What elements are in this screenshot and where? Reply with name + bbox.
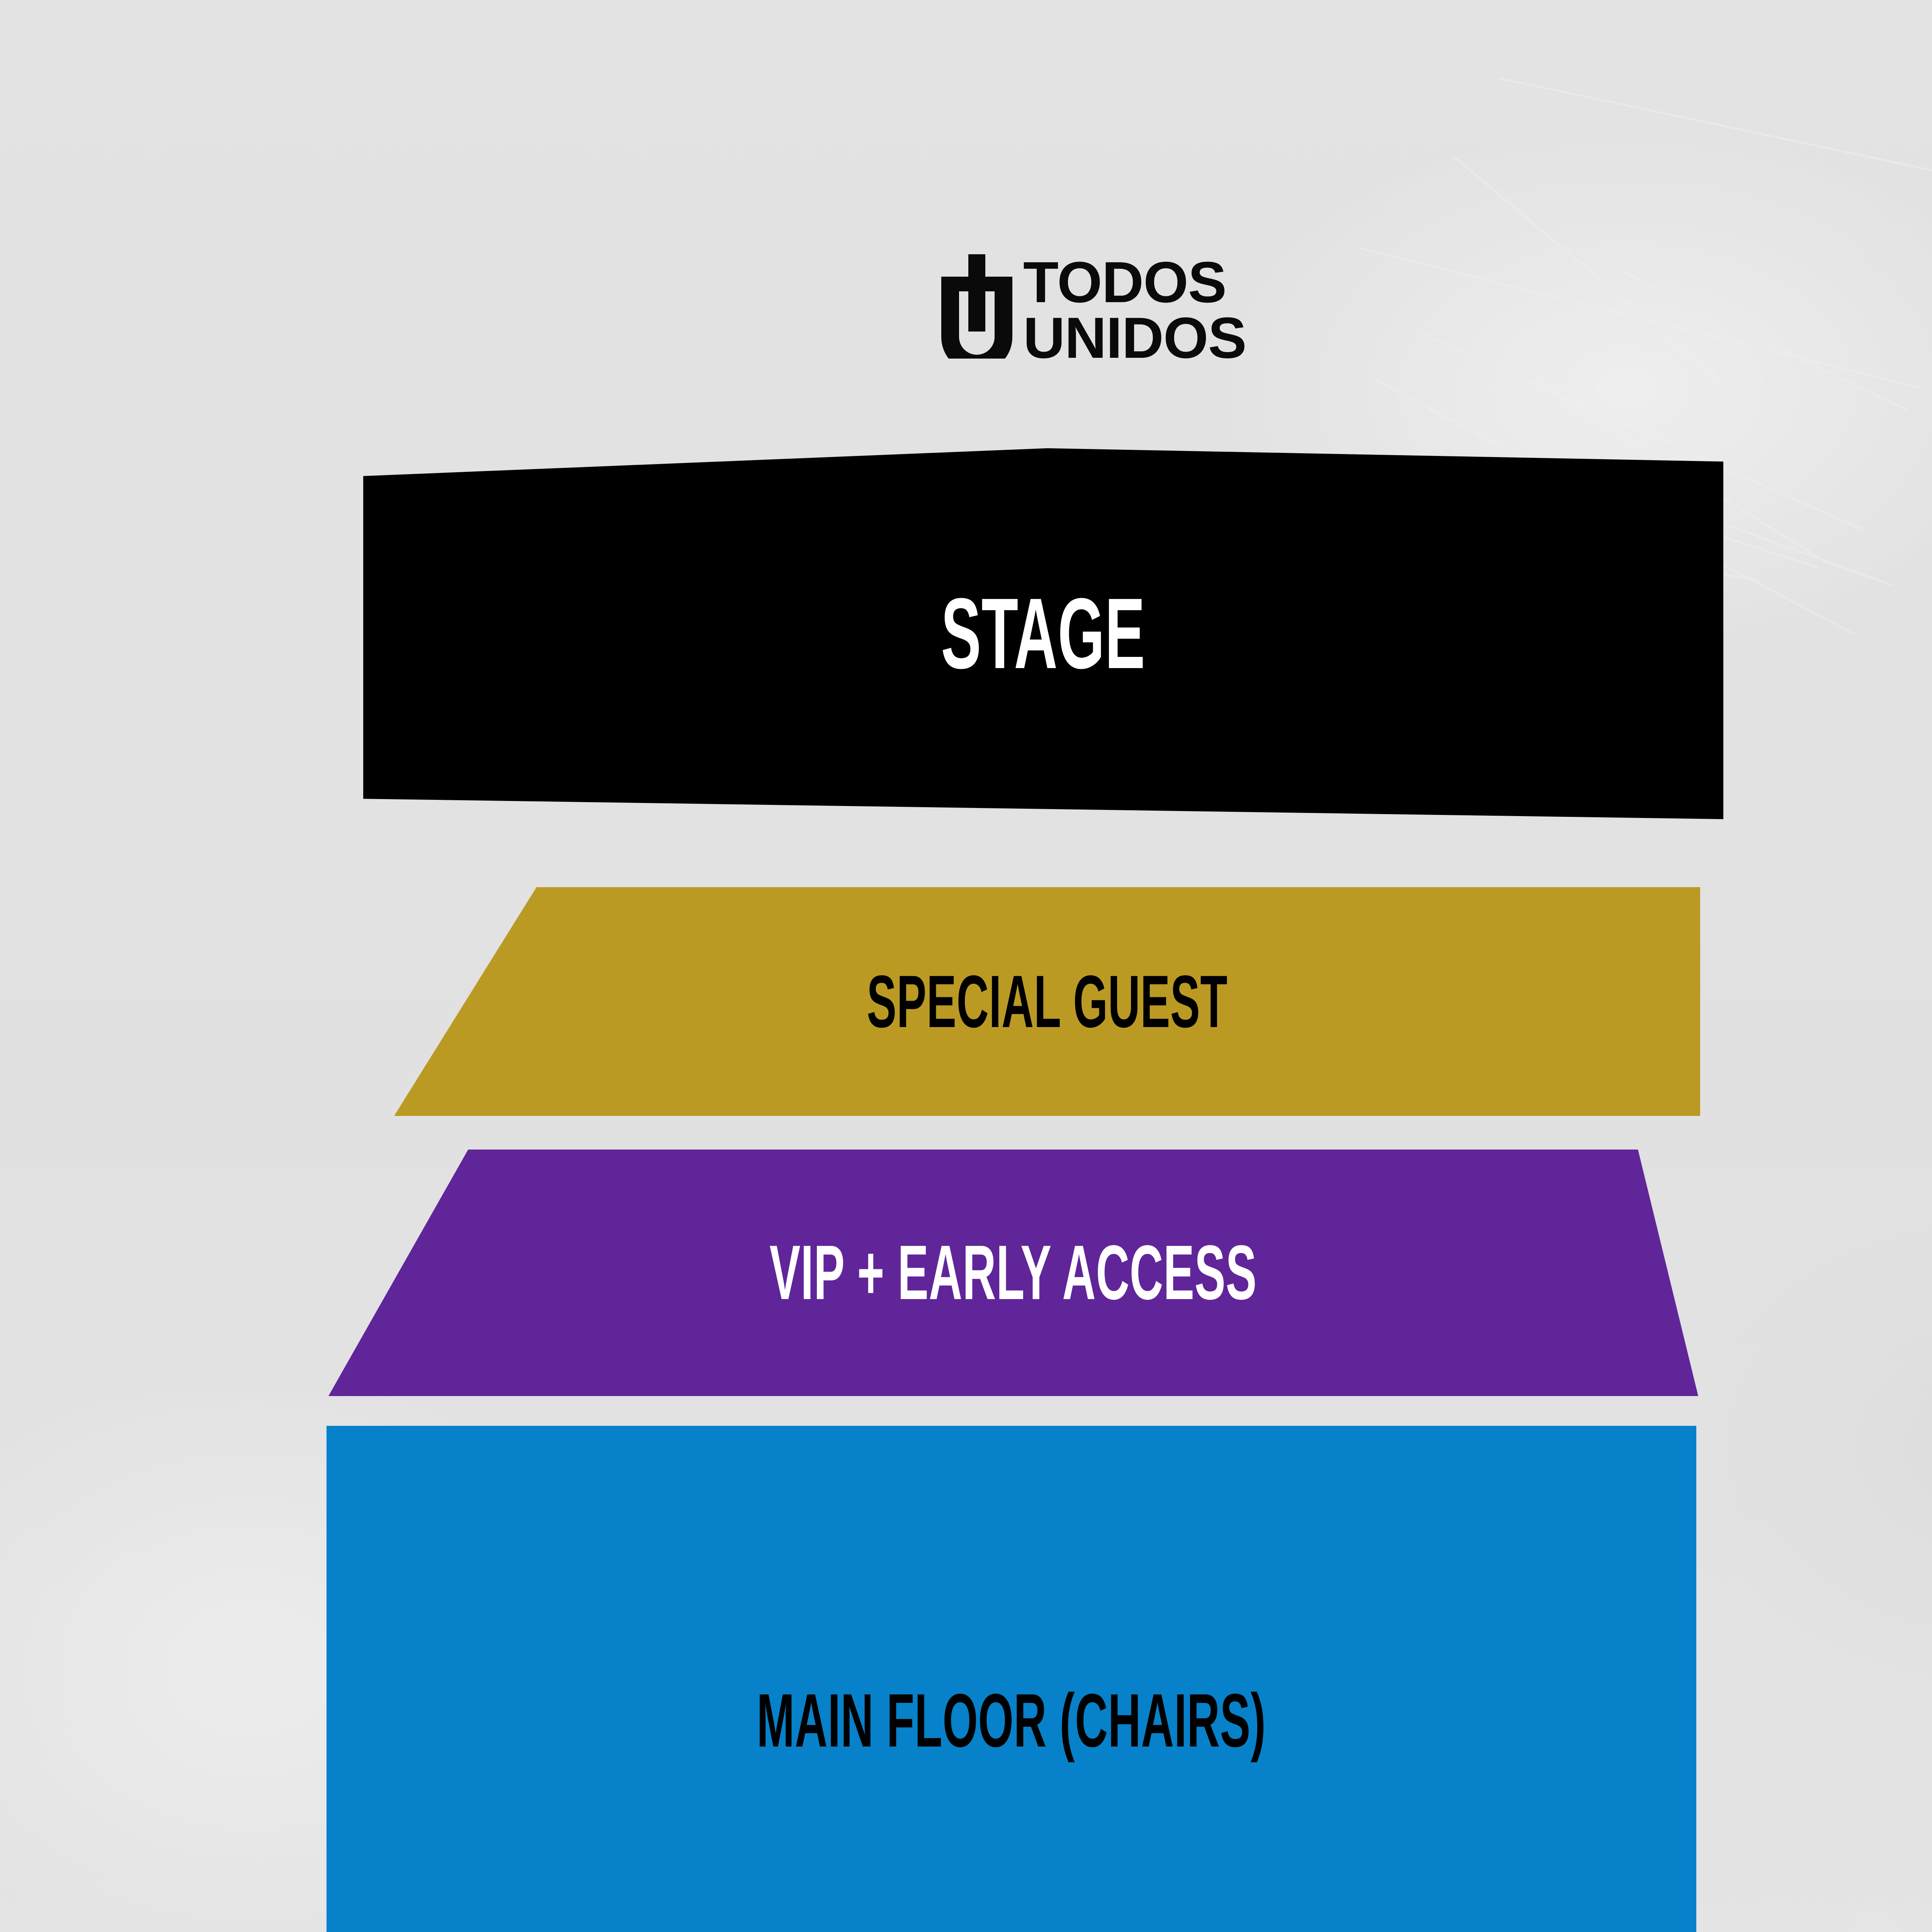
zone-vip-early-access[interactable]: VIP + EARLY ACCESS: [328, 1150, 1698, 1396]
zone-main-floor[interactable]: MAIN FLOOR (CHAIRS): [327, 1426, 1696, 1932]
zone-stage-label: STAGE: [941, 583, 1146, 684]
seating-chart: STAGE SPECIAL GUEST VIP + EARLY ACCESS M…: [0, 0, 1932, 1932]
zone-special-guest[interactable]: SPECIAL GUEST: [394, 887, 1700, 1116]
zone-main-floor-label: MAIN FLOOR (CHAIRS): [757, 1683, 1266, 1759]
zone-vip-early-access-label: VIP + EARLY ACCESS: [770, 1234, 1257, 1311]
zone-stage[interactable]: STAGE: [363, 448, 1723, 819]
zone-special-guest-label: SPECIAL GUEST: [867, 964, 1228, 1039]
